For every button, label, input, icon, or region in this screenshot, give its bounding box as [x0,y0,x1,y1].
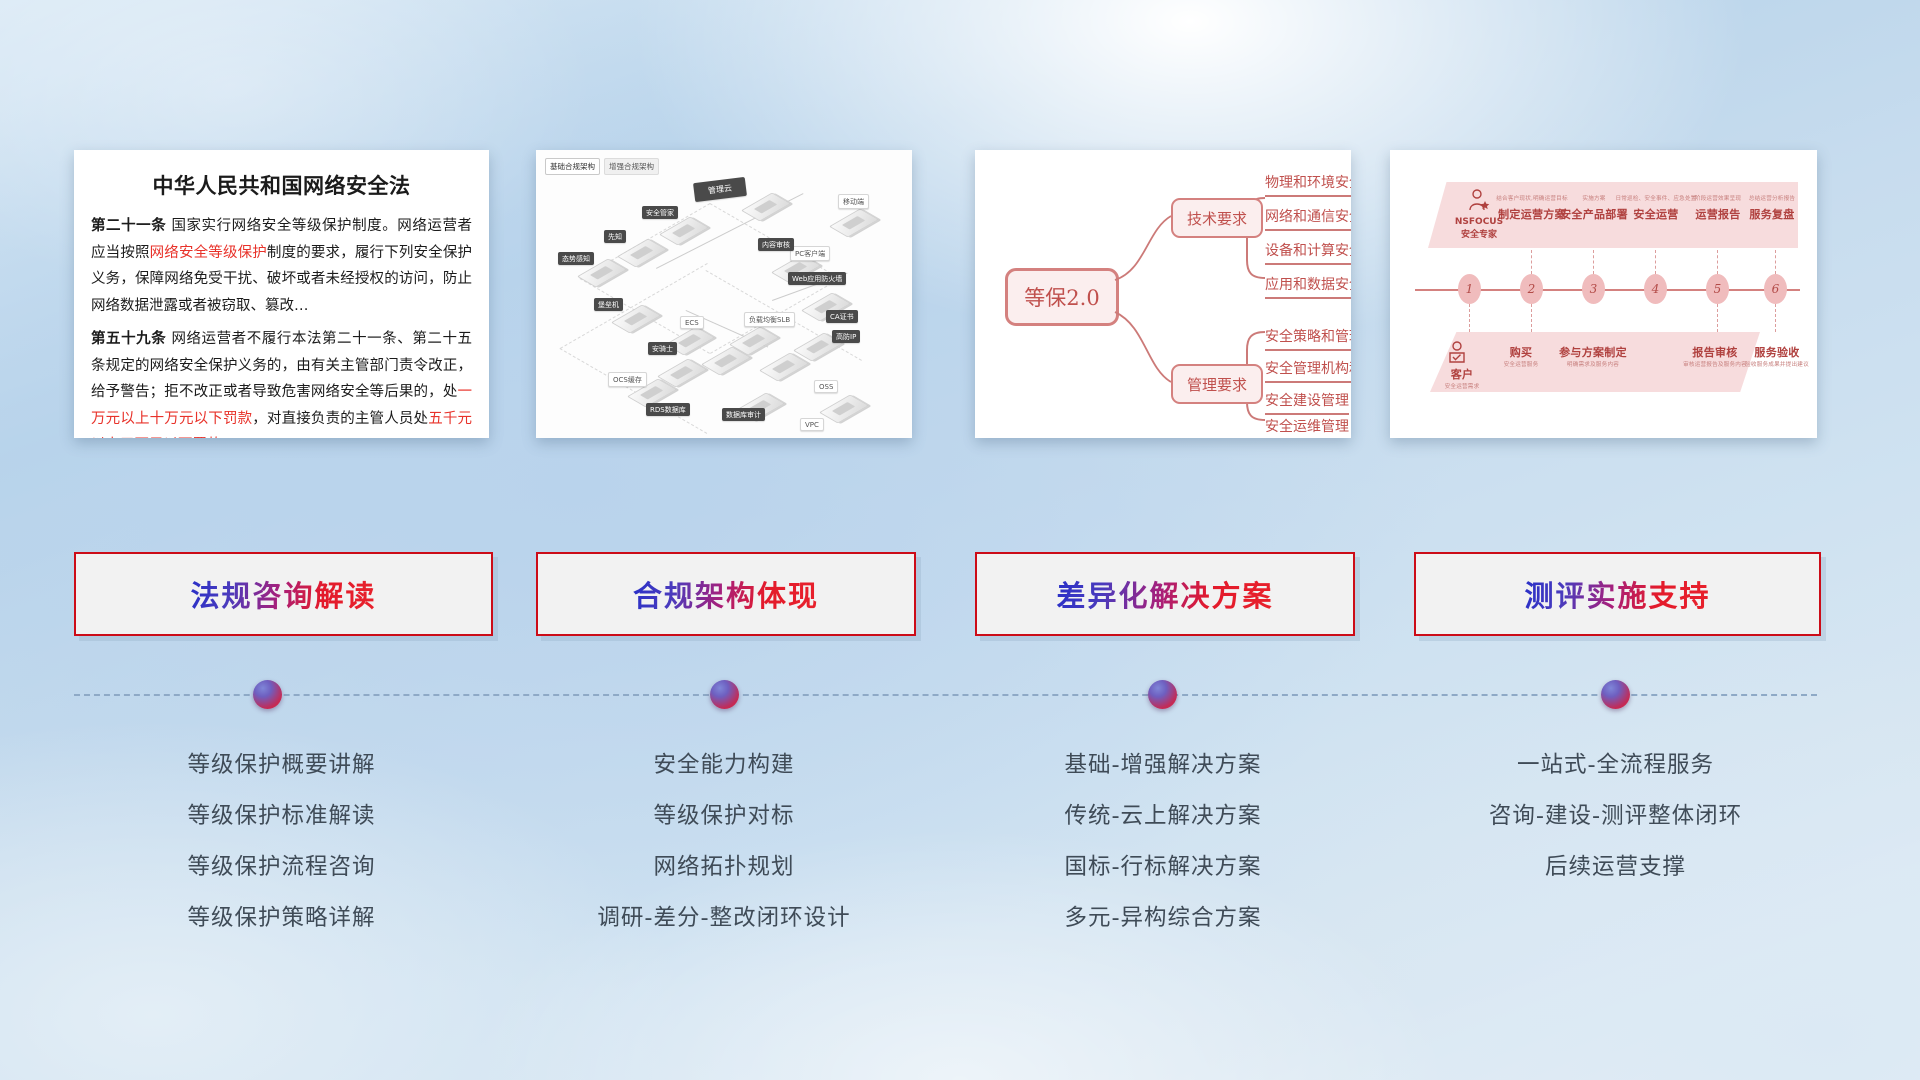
law-highlight: 网络安全等级保护 [150,245,267,261]
arch-node-label: 内容审核 [758,238,794,251]
arch-node-label: OSS [814,380,838,393]
iso-node [829,209,879,238]
rail-bead-1 [253,680,282,709]
arch-node-label: 高防IP [832,330,860,343]
section-items-1: 等级保护概要讲解 等级保护标准解读 等级保护流程咨询 等级保护策略详解 [74,740,489,944]
list-item: 国标-行标解决方案 [975,842,1351,893]
section-title-3: 差异化解决方案 [1056,573,1273,615]
list-item: 等级保护对标 [536,791,912,842]
list-item: 网络拓扑规划 [536,842,912,893]
timeline-canvas: NSFOCUS 安全专家 客户 安全运营需求 1 2 3 4 5 6 结合客户现… [1390,150,1817,438]
law-article-number: 第二十一条 [91,218,166,234]
card-architecture-diagram: 基础合规架构 增强合规架构 态势感知 先知 安全管 [536,150,912,438]
section-title-2: 合规架构体现 [633,573,819,615]
arch-node-label: OCS缓存 [608,372,647,387]
arch-node-label: 安骑士 [648,342,677,355]
timeline-stem [1717,250,1718,274]
arch-node-label: ECS [680,316,704,329]
list-item: 安全能力构建 [536,740,912,791]
customer-label: 客户 安全运营需求 [1442,366,1482,390]
timeline-node-1: 1 [1458,274,1481,304]
list-item: 咨询-建设-测评整体闭环 [1414,791,1817,842]
section-items-4: 一站式-全流程服务 咨询-建设-测评整体闭环 后续运营支撑 [1414,740,1817,893]
timeline-node-6: 6 [1764,274,1787,304]
mindmap-leaf: 设备和计算安全 [1265,240,1351,265]
rail-bead-2 [710,680,739,709]
list-item: 等级保护概要讲解 [74,740,489,791]
mindmap-leaf: 应用和数据安全 [1265,274,1351,299]
arch-node-label: 先知 [604,230,626,243]
timeline-top-label-6: 总结运营分析报告 服务复盘 [1732,194,1812,222]
arch-node-label: VPC [800,418,824,431]
timeline-rail [74,694,1817,696]
arch-node-label: PC客户端 [790,246,830,261]
iso-node [741,193,791,222]
list-item: 多元-异构综合方案 [975,893,1351,944]
iso-node [659,217,709,246]
section-title-box-2[interactable]: 合规架构体现 [536,552,916,636]
rail-bead-4 [1601,680,1630,709]
arch-node-label: RDS数据库 [646,403,690,416]
rail-bead-3 [1148,680,1177,709]
timeline-node-2: 2 [1520,274,1543,304]
law-article-number: 第五十九条 [91,331,166,347]
card-law-text: 中华人民共和国网络安全法 第二十一条 国家实行网络安全等级保护制度。网络运营者应… [74,150,489,438]
list-item: 传统-云上解决方案 [975,791,1351,842]
timeline-bottom-label-2: 参与方案制定 明确需求及服务内容 [1550,344,1636,368]
timeline-bottom-label-1: 购买 安全运营服务 [1490,344,1552,368]
arch-node-label: 管理云 [693,177,747,202]
timeline-stem [1593,250,1594,274]
section-title-box-4[interactable]: 测评实施支持 [1414,552,1821,636]
list-item: 基础-增强解决方案 [975,740,1351,791]
arch-node-label: 移动端 [838,194,869,209]
list-item: 后续运营支撑 [1414,842,1817,893]
mindmap-leaf: 物理和环境安全 [1265,172,1351,197]
list-item: 一站式-全流程服务 [1414,740,1817,791]
law-paragraph-59: 第五十九条 网络运营者不履行本法第二十一条、第二十五条规定的网络安全保护义务的，… [91,326,472,438]
arch-node-label: 态势感知 [558,252,594,265]
arch-node-label: Web应用防火墙 [788,272,846,285]
timeline-node-4: 4 [1644,274,1667,304]
arch-node-label: 堡垒机 [594,298,623,311]
law-body: 中华人民共和国网络安全法 第二十一条 国家实行网络安全等级保护制度。网络运营者应… [74,150,489,438]
mindmap-branch-technical: 技术要求 [1171,198,1263,238]
timeline-node-5: 5 [1706,274,1729,304]
timeline-stem [1531,304,1532,332]
card-mindmap: 等保2.0 技术要求 管理要求 物理和环境安全 网络和通信安全 设备和计算安全 … [975,150,1351,438]
timeline-stem [1655,250,1656,274]
arch-tab-enhanced[interactable]: 增强合规架构 [604,158,659,175]
mindmap-leaf: 安全建设管理 [1265,390,1349,415]
mindmap-leaf: 安全管理机构和人员 [1265,358,1351,383]
timeline-bottom-label-6: 服务验收 验收服务成果并提出建议 [1738,344,1816,368]
section-items-3: 基础-增强解决方案 传统-云上解决方案 国标-行标解决方案 多元-异构综合方案 [975,740,1351,944]
mindmap-canvas: 等保2.0 技术要求 管理要求 物理和环境安全 网络和通信安全 设备和计算安全 … [975,150,1351,438]
law-run: ，对直接负责的主管人员处 [252,411,428,427]
section-title-1: 法规咨询解读 [190,573,376,615]
timeline-stem [1775,250,1776,274]
law-paragraph-21: 第二十一条 国家实行网络安全等级保护制度。网络运营者应当按照网络安全等级保护制度… [91,213,472,319]
mindmap-leaf: 安全策略和管理制度 [1265,326,1351,351]
arch-node-label: CA证书 [826,310,858,323]
section-title-box-1[interactable]: 法规咨询解读 [74,552,493,636]
list-item: 等级保护流程咨询 [74,842,489,893]
arch-tab-basic[interactable]: 基础合规架构 [545,158,600,175]
customer-person-icon [1446,340,1472,366]
timeline-stem [1531,250,1532,274]
iso-node [819,395,869,424]
timeline-stem [1717,304,1718,332]
list-item: 等级保护标准解读 [74,791,489,842]
timeline-stem [1469,304,1470,332]
section-items-2: 安全能力构建 等级保护对标 网络拓扑规划 调研-差分-整改闭环设计 [536,740,912,944]
mindmap-branch-management: 管理要求 [1171,364,1263,404]
arch-node-label: 负载均衡SLB [744,312,795,327]
list-item: 调研-差分-整改闭环设计 [536,893,912,944]
brand-role: 安全专家 [1446,229,1512,242]
mindmap-leaf: 网络和通信安全 [1265,206,1351,231]
section-title-4: 测评实施支持 [1524,573,1710,615]
timeline-stem [1775,304,1776,332]
mindmap-leaf: 安全运维管理 [1265,416,1349,438]
architecture-tabs[interactable]: 基础合规架构 增强合规架构 [545,158,659,175]
law-title: 中华人民共和国网络安全法 [91,170,472,200]
arch-node-label: 安全管家 [642,206,678,219]
section-title-box-3[interactable]: 差异化解决方案 [975,552,1355,636]
list-item: 等级保护策略详解 [74,893,489,944]
iso-node [759,353,809,382]
timeline-node-3: 3 [1582,274,1605,304]
arch-node-label: 数据库审计 [722,408,765,421]
card-service-timeline: NSFOCUS 安全专家 客户 安全运营需求 1 2 3 4 5 6 结合客户现… [1390,150,1817,438]
architecture-canvas: 基础合规架构 增强合规架构 态势感知 先知 安全管 [536,150,912,438]
